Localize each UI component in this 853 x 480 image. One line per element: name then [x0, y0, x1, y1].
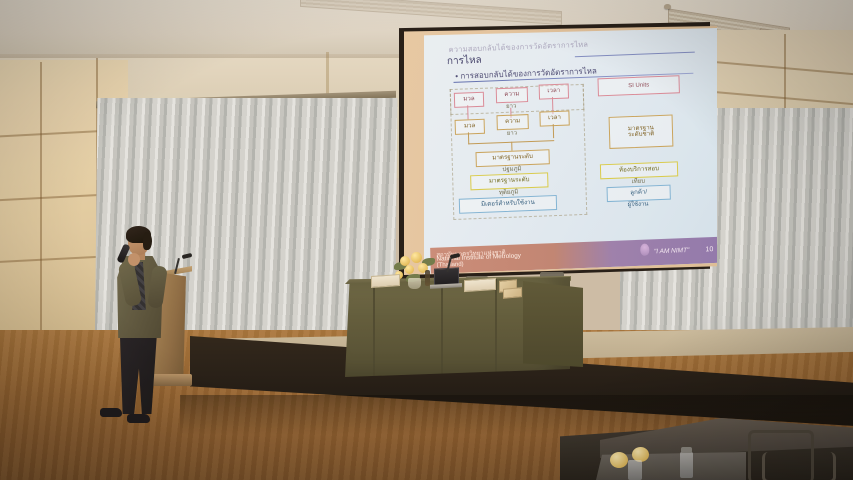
slide-content: ความสอบกลับได้ของการวัดอัตราการไหล การไห… — [424, 28, 717, 274]
gift-box-2 — [503, 287, 522, 299]
flower — [411, 252, 422, 263]
cloth-fold — [495, 279, 497, 375]
speaker-hand — [128, 253, 140, 266]
slide-page-number: 10 — [705, 246, 713, 253]
name-card-right — [464, 278, 496, 292]
slide-footer-slogan: "I AM NIMT" — [654, 247, 690, 255]
nimt-logo-icon — [640, 244, 649, 256]
foreground-vase — [628, 460, 642, 480]
cloth-fold — [373, 285, 375, 377]
diagram-box-si-units: SI Units — [597, 75, 679, 96]
connector-vertical — [511, 142, 512, 151]
diagram-box-mass-si: มวล — [454, 92, 484, 108]
cloth-fold — [441, 281, 443, 377]
diagram-label-customer-wrap: ผู้ใช้งาน — [607, 198, 669, 210]
foreground-chair-seat — [762, 452, 836, 480]
projected-slide: ความสอบกลับได้ของการวัดอัตราการไหล การไห… — [424, 28, 717, 274]
speaker-shoe-right — [127, 414, 150, 423]
diagram-box-mass-primary: มวล — [455, 119, 485, 135]
diagram-box-national-standard: มาตรฐาน ระดับชาติ — [609, 115, 674, 149]
diagram-label-length-wrap-2: ยาว — [497, 127, 527, 138]
slide-title: การไหล — [447, 53, 482, 69]
foreground-water-bottle — [680, 452, 693, 478]
name-card-left — [371, 274, 400, 288]
speaker-shoe-left — [100, 408, 122, 417]
head-table-right-section — [523, 281, 583, 367]
foreground-bottle-cap — [681, 447, 692, 453]
right-wall-seam-vertical — [784, 34, 786, 118]
diagram-box-time-si: เวลา — [539, 83, 569, 99]
wall-panel-seam-vertical — [40, 62, 42, 362]
photo-scene: ความสอบกลับได้ของการวัดอัตราการไหล การไห… — [0, 0, 853, 480]
flower-vase — [408, 278, 421, 289]
speaker-hair-side — [143, 232, 152, 250]
slide-title-underline-top — [575, 52, 695, 58]
foreground-flower-1 — [610, 452, 628, 468]
sprinkler-head-2 — [664, 4, 671, 9]
national-standard-line1: มาตรฐาน ระดับชาติ — [628, 125, 655, 139]
diagram-box-time-primary: เวลา — [539, 110, 569, 126]
flower — [405, 265, 414, 274]
water-bottle-on-table — [425, 270, 430, 286]
